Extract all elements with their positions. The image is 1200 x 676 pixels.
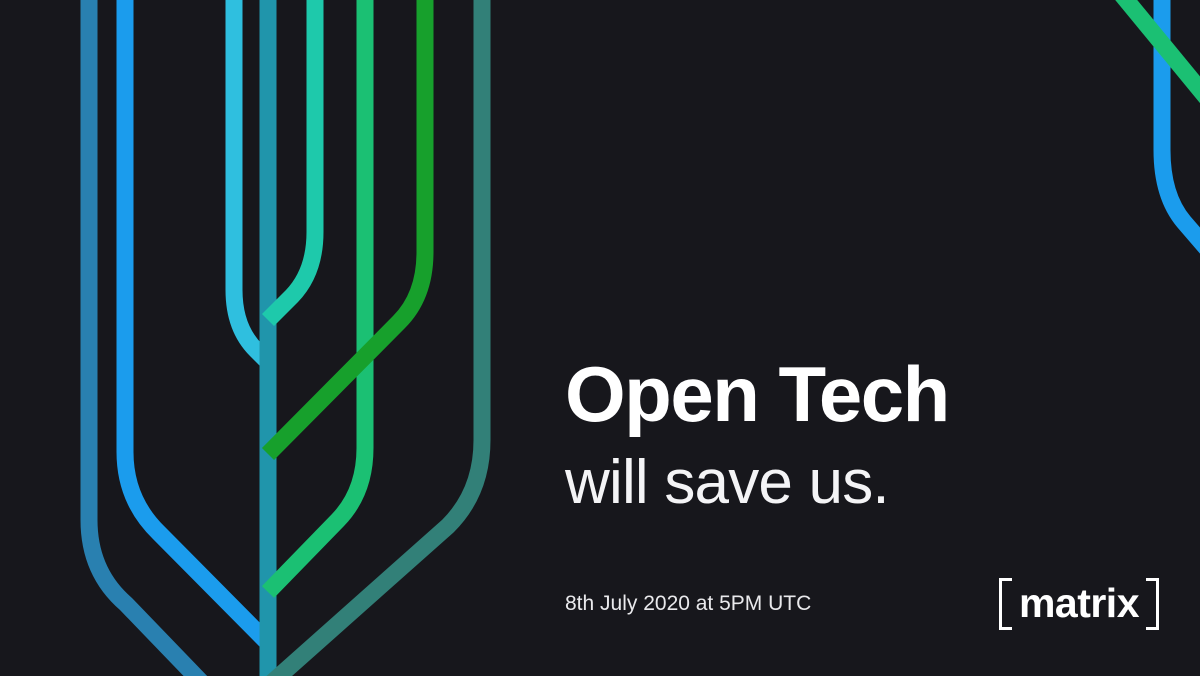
- content-column: Open Tech will save us. 8th July 2020 at…: [560, 0, 1200, 676]
- logo-bracket-right-icon: [1146, 578, 1159, 630]
- logo-wordmark: matrix: [1012, 583, 1146, 624]
- logo-bracket-left-icon: [999, 578, 1012, 630]
- page-subtitle: will save us.: [565, 452, 889, 514]
- matrix-logo: matrix: [999, 575, 1159, 633]
- page-title: Open Tech: [565, 355, 949, 433]
- event-date-text: 8th July 2020 at 5PM UTC: [565, 592, 811, 616]
- promo-banner: Open Tech will save us. 8th July 2020 at…: [0, 0, 1200, 676]
